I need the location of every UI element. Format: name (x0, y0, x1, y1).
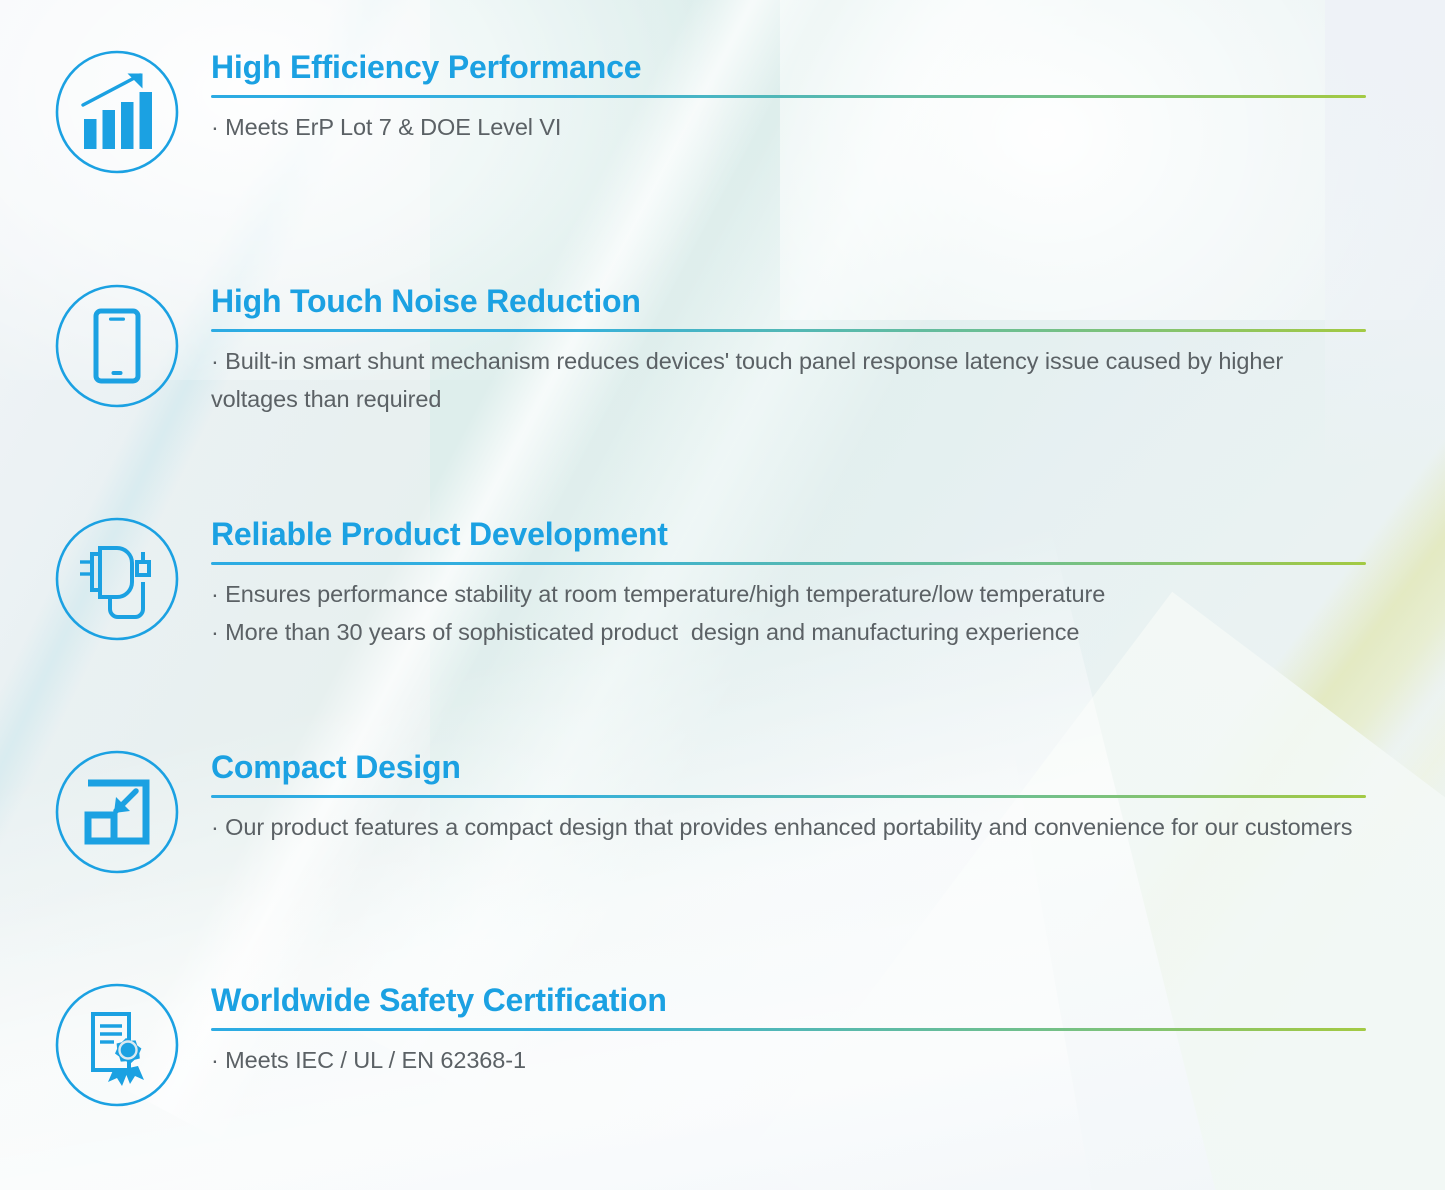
feature-text-block: Worldwide Safety Certification · Meets I… (211, 981, 1371, 1079)
bullet-marker: · (211, 814, 219, 840)
feature-item-worldwide-safety-certification: Worldwide Safety Certification · Meets I… (53, 981, 1371, 1109)
bullet-marker: · (211, 581, 219, 607)
feature-list: High Efficiency Performance · Meets ErP … (0, 0, 1445, 1190)
bar-chart-growth-icon (54, 49, 180, 175)
feature-title: High Efficiency Performance (211, 50, 1371, 86)
power-adapter-icon (54, 516, 180, 642)
feature-divider (211, 795, 1366, 798)
feature-icon-container (53, 748, 181, 876)
feature-divider (211, 329, 1366, 332)
feature-item-high-efficiency-performance: High Efficiency Performance · Meets ErP … (53, 48, 1371, 176)
feature-item-reliable-product-development: Reliable Product Development · Ensures p… (53, 515, 1386, 651)
feature-divider (211, 562, 1366, 565)
feature-icon-container (53, 282, 181, 410)
bullet-text: Meets ErP Lot 7 & DOE Level VI (225, 114, 561, 140)
feature-text-block: Reliable Product Development · Ensures p… (211, 515, 1386, 651)
feature-title: Worldwide Safety Certification (211, 983, 1371, 1019)
bullet-text: Our product features a compact design th… (225, 814, 1352, 840)
feature-bullets: · Our product features a compact design … (211, 808, 1371, 846)
bullet-text: More than 30 years of sophisticated prod… (225, 619, 1079, 645)
feature-icon-container (53, 48, 181, 176)
bullet-item: · Meets ErP Lot 7 & DOE Level VI (211, 108, 1371, 146)
feature-item-compact-design: Compact Design · Our product features a … (53, 748, 1371, 876)
bullet-item: · Meets IEC / UL / EN 62368-1 (211, 1041, 1371, 1079)
feature-title: High Touch Noise Reduction (211, 284, 1371, 320)
bullet-item: · Our product features a compact design … (211, 808, 1371, 846)
feature-bullets: · Ensures performance stability at room … (211, 575, 1386, 651)
bullet-marker: · (211, 1047, 219, 1073)
certificate-award-icon (54, 982, 180, 1108)
smartphone-icon (54, 283, 180, 409)
feature-text-block: High Touch Noise Reduction · Built-in sm… (211, 282, 1371, 418)
feature-bullets: · Built-in smart shunt mechanism reduces… (211, 342, 1371, 418)
feature-icon-container (53, 981, 181, 1109)
bullet-text: Built-in smart shunt mechanism reduces d… (211, 348, 1289, 412)
bullet-item: · Built-in smart shunt mechanism reduces… (211, 342, 1371, 418)
feature-divider (211, 1028, 1366, 1031)
feature-item-high-touch-noise-reduction: High Touch Noise Reduction · Built-in sm… (53, 282, 1371, 418)
bullet-text: Meets IEC / UL / EN 62368-1 (225, 1047, 526, 1073)
feature-bullets: · Meets ErP Lot 7 & DOE Level VI (211, 108, 1371, 146)
bullet-marker: · (211, 619, 219, 645)
bullet-item: · More than 30 years of sophisticated pr… (211, 613, 1386, 651)
feature-text-block: Compact Design · Our product features a … (211, 748, 1371, 846)
bullet-marker: · (211, 114, 219, 140)
resize-compact-icon (54, 749, 180, 875)
feature-text-block: High Efficiency Performance · Meets ErP … (211, 48, 1371, 146)
feature-bullets: · Meets IEC / UL / EN 62368-1 (211, 1041, 1371, 1079)
feature-divider (211, 95, 1366, 98)
feature-title: Compact Design (211, 750, 1371, 786)
bullet-item: · Ensures performance stability at room … (211, 575, 1386, 613)
feature-icon-container (53, 515, 181, 643)
bullet-text: Ensures performance stability at room te… (225, 581, 1105, 607)
feature-title: Reliable Product Development (211, 517, 1386, 553)
bullet-marker: · (211, 348, 219, 374)
